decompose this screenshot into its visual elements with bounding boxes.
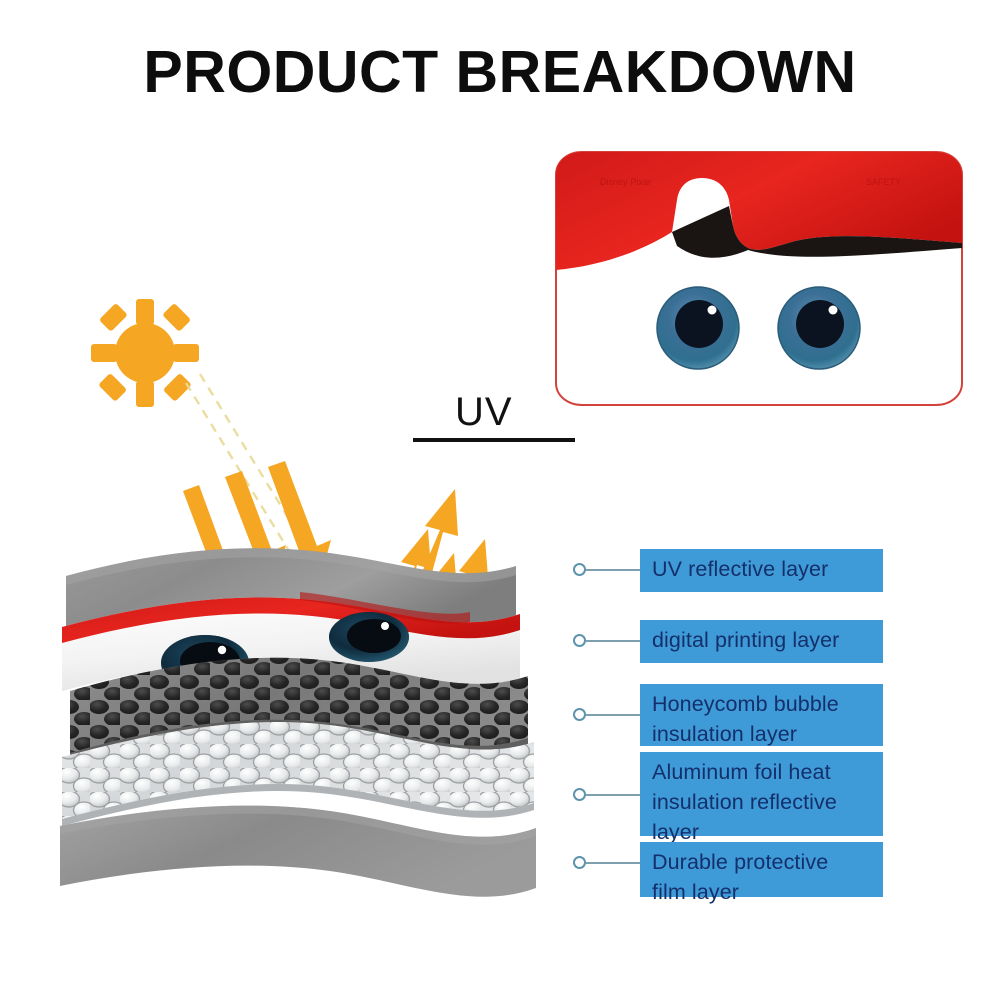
callout-label-uv-reflective-layer[interactable]: UV reflective layer (640, 549, 883, 592)
callout-marker-3[interactable] (573, 708, 586, 721)
infographic-canvas: PRODUCT BREAKDOWN (0, 0, 1000, 1000)
callout-label-aluminum-foil-heat-insulation-reflective-layer[interactable]: Aluminum foil heat insulation reflective… (640, 752, 883, 836)
printed-eye-right (329, 612, 409, 662)
callout-label-digital-printing-layer[interactable]: digital printing layer (640, 620, 883, 663)
product-eye-left (657, 287, 739, 369)
brand-mark-right: SAFETY (866, 177, 901, 187)
callout-connector-3 (586, 714, 642, 716)
callout-connector-5 (586, 862, 642, 864)
layer-durable-protective-film-sheet (60, 806, 536, 897)
sun-icon (91, 299, 199, 407)
product-eye-right (778, 287, 860, 369)
callout-line: insulation reflective (652, 787, 883, 817)
callout-line: UV reflective layer (652, 554, 883, 584)
callout-label-durable-protective-film-layer[interactable]: Durable protective film layer (640, 842, 883, 897)
callout-connector-4 (586, 794, 642, 796)
callout-marker-2[interactable] (573, 634, 586, 647)
callout-connector-1 (586, 569, 642, 571)
callout-marker-4[interactable] (573, 788, 586, 801)
callout-connector-2 (586, 640, 642, 642)
callout-line: insulation layer (652, 719, 883, 749)
callout-label-honeycomb-bubble-insulation-layer[interactable]: Honeycomb bubble insulation layer (640, 684, 883, 746)
callout-line: Aluminum foil heat (652, 757, 883, 787)
callout-line: film layer (652, 877, 883, 907)
callout-line: Durable protective (652, 847, 883, 877)
product-sunshade: Disney·Pixar SAFETY (556, 152, 962, 405)
uv-label: UV (455, 390, 513, 435)
uv-underline (413, 438, 575, 442)
brand-mark-left: Disney·Pixar (600, 177, 651, 187)
callout-line: Honeycomb bubble (652, 689, 883, 719)
callout-marker-5[interactable] (573, 856, 586, 869)
callout-line: digital printing layer (652, 625, 883, 655)
callout-marker-1[interactable] (573, 563, 586, 576)
